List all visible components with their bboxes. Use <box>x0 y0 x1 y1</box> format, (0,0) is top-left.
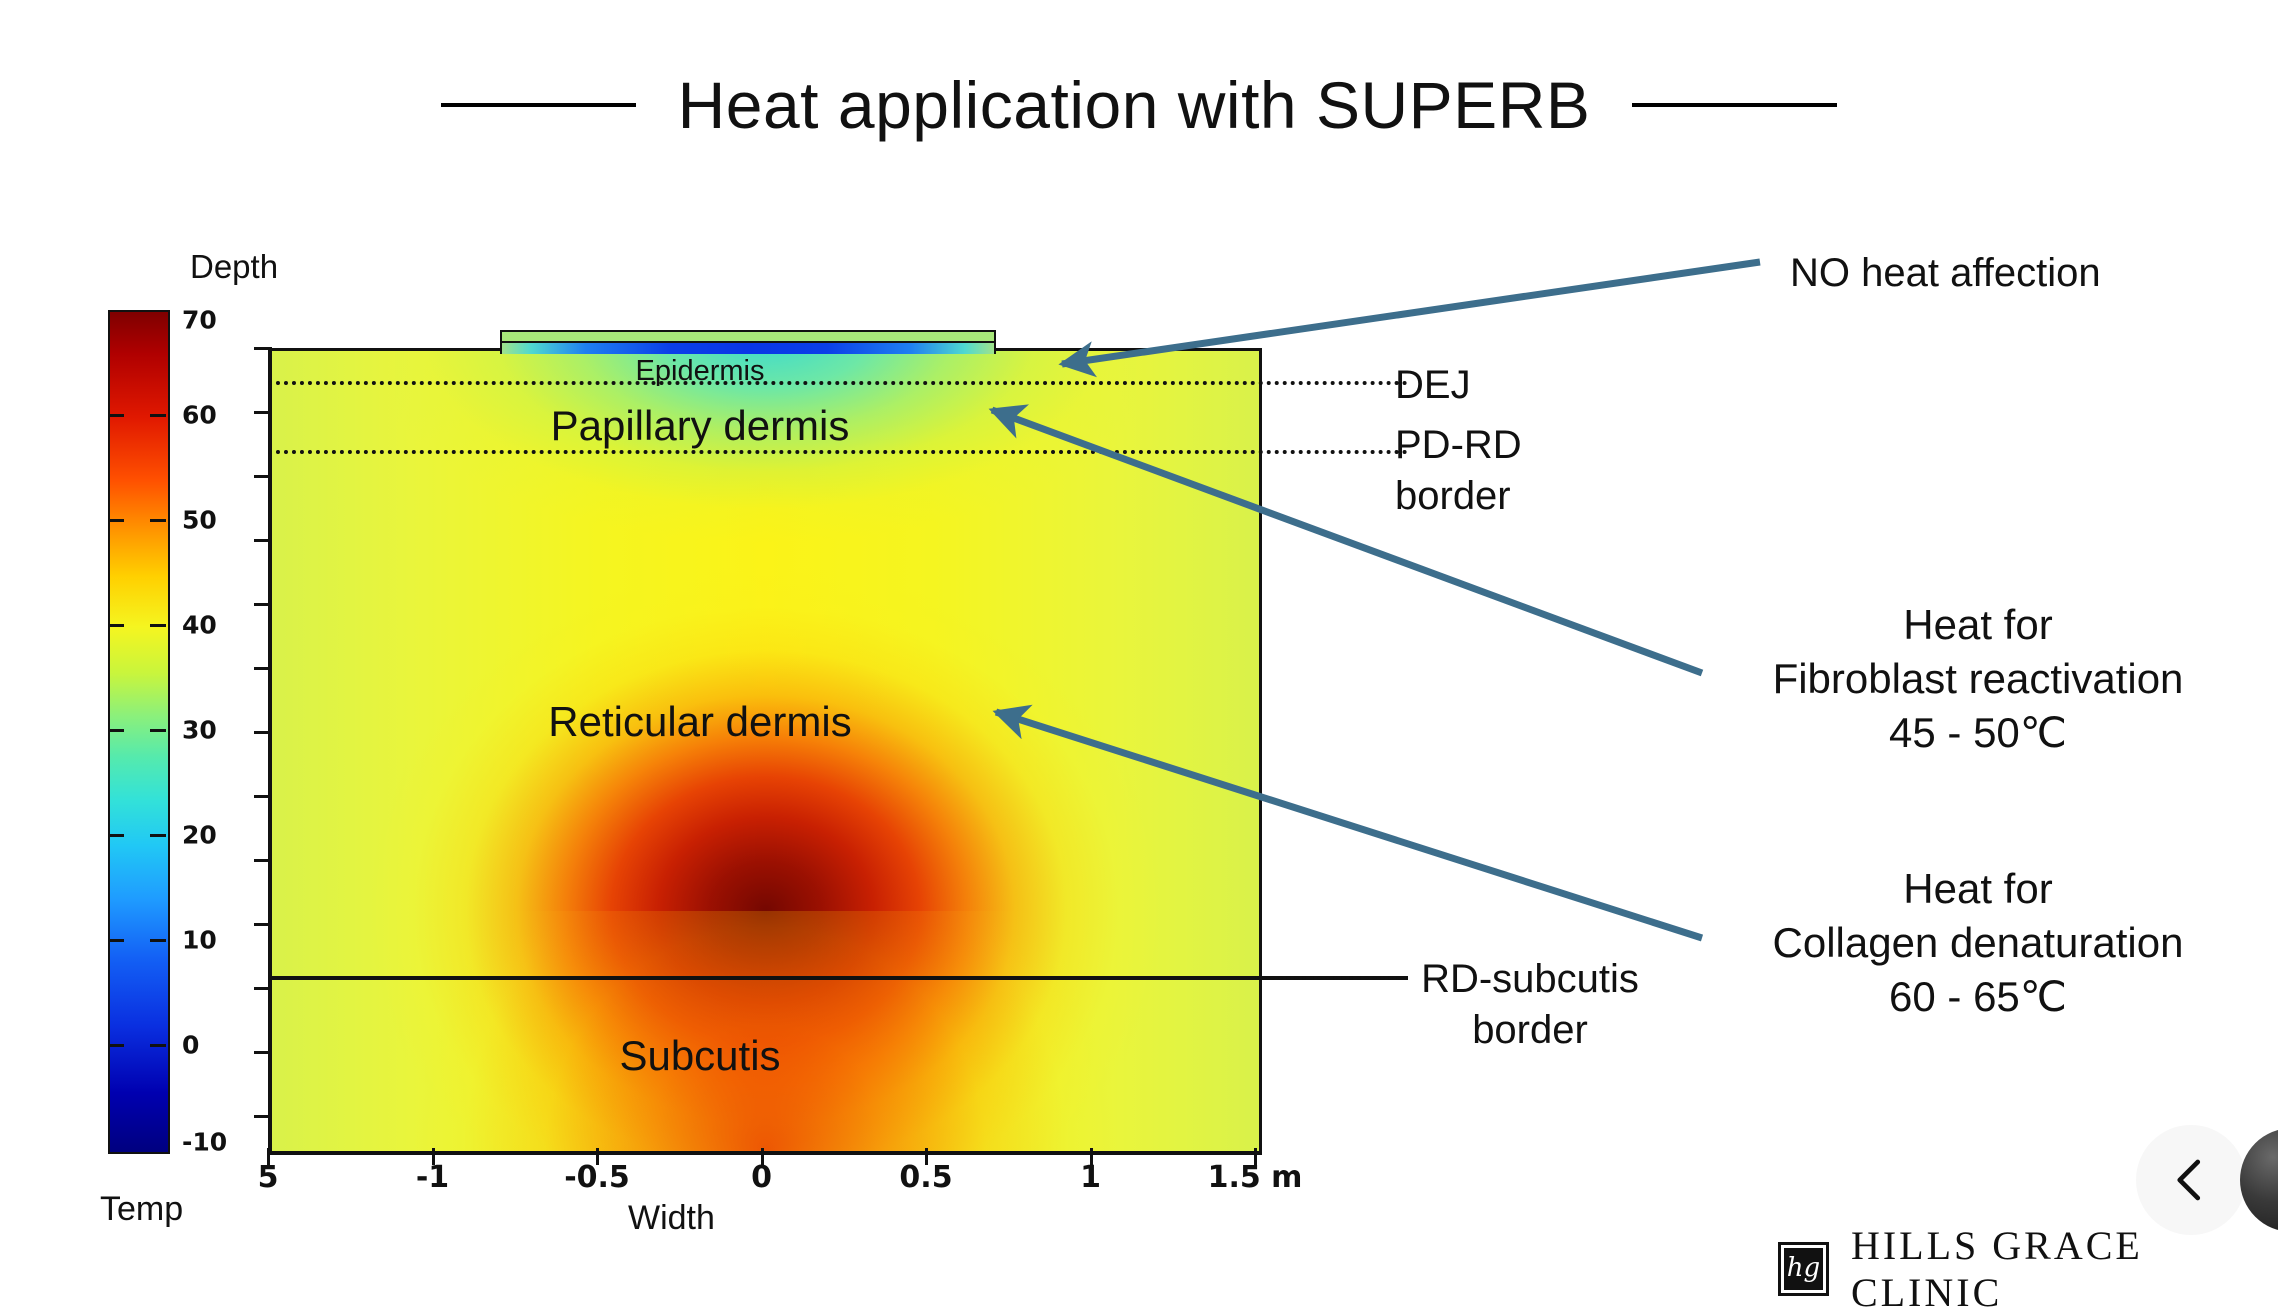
boundary-line-rd-subcutis <box>268 976 1408 980</box>
clinic-name: HILLS GRACE CLINIC <box>1851 1222 2278 1316</box>
y-axis-tick <box>254 603 272 606</box>
y-axis-tick <box>254 347 272 350</box>
colorbar-tick <box>150 939 166 942</box>
logo-monogram-icon: hg <box>1778 1242 1829 1296</box>
colorbar-tick <box>110 729 124 732</box>
colorbar-tick-label: 30 <box>182 716 217 745</box>
annotation-fibroblast-reactivation: Heat for Fibroblast reactivation 45 - 50… <box>1718 598 2238 759</box>
colorbar-tick <box>150 624 166 627</box>
colorbar-tick-label: 40 <box>182 611 217 640</box>
colorbar-gradient <box>108 310 170 1154</box>
colorbar-tick <box>110 414 124 417</box>
colorbar-tick <box>150 1044 166 1047</box>
back-button[interactable] <box>2136 1125 2246 1235</box>
layer-label-epidermis: Epidermis <box>636 355 765 388</box>
x-axis-tick-label: 0 <box>751 1160 772 1195</box>
x-axis-tick-label: -1 <box>416 1160 449 1195</box>
boundary-line-rd-subcutis-extension <box>1255 976 1408 980</box>
y-axis-tick <box>254 859 272 862</box>
boundary-label-rd-subcutis: RD-subcutis border <box>1395 954 1665 1056</box>
y-axis-tick <box>254 1051 272 1054</box>
colorbar-tick-label: 50 <box>182 506 217 535</box>
y-axis-tick <box>254 987 272 990</box>
width-axis-title: Width <box>628 1199 715 1238</box>
heatmap-figure: 706050403020100-10 Temp Depth Width Epid… <box>0 0 1400 1289</box>
applicator-cooling-plate <box>502 341 994 354</box>
boundary-line-dej <box>268 381 1408 385</box>
annotation-no-heat-affection: NO heat affection <box>1790 248 2101 299</box>
y-axis-tick <box>254 923 272 926</box>
boundary-line-pd-rd <box>268 450 1408 454</box>
clinic-logo: hg HILLS GRACE CLINIC <box>1778 1222 2278 1316</box>
layer-label-papillary-dermis: Papillary dermis <box>551 402 850 450</box>
colorbar-tick <box>110 834 124 837</box>
depth-axis-title: Depth <box>190 248 278 286</box>
colorbar-tick-label: 70 <box>182 306 217 335</box>
layer-label-subcutis: Subcutis <box>619 1032 780 1080</box>
y-axis-tick <box>254 667 272 670</box>
y-axis-tick <box>254 731 272 734</box>
colorbar-tick <box>150 729 166 732</box>
colorbar-title: Temp <box>100 1190 183 1229</box>
y-axis-tick <box>254 411 272 414</box>
x-axis-tick-label: 1.5 m <box>1208 1160 1303 1195</box>
colorbar-tick <box>150 414 166 417</box>
secondary-round-button[interactable] <box>2240 1128 2278 1232</box>
heat-field-deep <box>272 911 1259 1151</box>
annotation-collagen-denaturation: Heat for Collagen denaturation 60 - 65℃ <box>1718 862 2238 1023</box>
y-axis-tick <box>254 475 272 478</box>
colorbar-tick <box>150 834 166 837</box>
y-axis-tick <box>254 795 272 798</box>
colorbar-tick <box>110 1044 124 1047</box>
y-axis-tick <box>254 1115 272 1118</box>
colorbar-tick-label: 20 <box>182 821 217 850</box>
x-axis-tick-label: 5 <box>258 1160 279 1195</box>
colorbar-tick <box>110 519 124 522</box>
colorbar-tick <box>150 519 166 522</box>
layer-label-reticular-dermis: Reticular dermis <box>548 698 851 746</box>
boundary-label-pd-rd: PD-RD border <box>1395 420 1522 522</box>
colorbar-tick-label: -10 <box>182 1128 227 1157</box>
applicator-device <box>500 330 996 354</box>
boundary-label-dej: DEJ <box>1395 360 1471 411</box>
x-axis-tick-label: 1 <box>1080 1160 1101 1195</box>
colorbar-tick-label: 0 <box>182 1031 199 1060</box>
colorbar-tick-label: 60 <box>182 401 217 430</box>
x-axis-tick-label: 0.5 <box>899 1160 952 1195</box>
x-axis-tick-label: -0.5 <box>564 1160 630 1195</box>
y-axis-tick <box>254 539 272 542</box>
temperature-colorbar: 706050403020100-10 <box>108 310 228 1150</box>
colorbar-tick-label: 10 <box>182 926 217 955</box>
logo-monogram-text: hg <box>1787 1255 1820 1281</box>
chevron-left-icon <box>2164 1153 2218 1207</box>
colorbar-tick <box>110 624 124 627</box>
colorbar-tick <box>110 939 124 942</box>
title-rule-right <box>1632 103 1837 107</box>
